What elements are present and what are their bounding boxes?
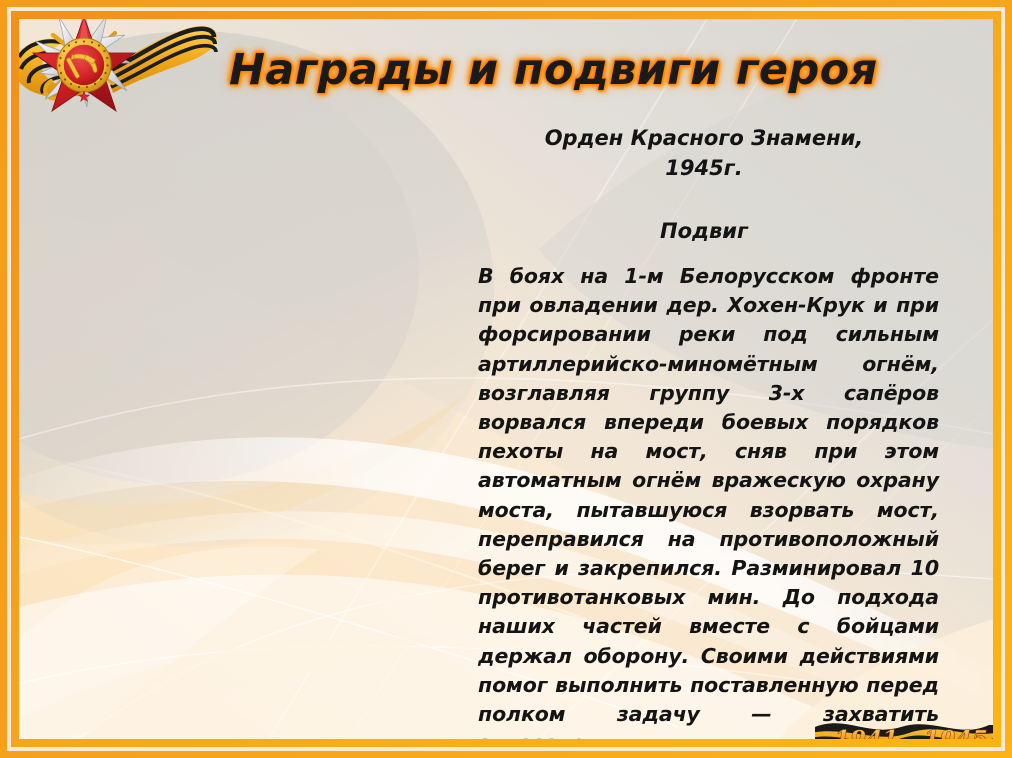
award-name: Орден Красного Знамени, <box>459 123 949 153</box>
presentation-slide: Награды и подвиги героя Орден Красного З… <box>0 0 1012 758</box>
years-ribbon-icon: 1941 - 1945 <box>811 713 993 739</box>
ribbon-years-label: 1941 - 1945 <box>834 726 988 739</box>
slide-canvas: Награды и подвиги героя Орден Красного З… <box>19 19 993 739</box>
award-year: 1945г. <box>459 153 949 183</box>
deed-body-text: В боях на 1-м Белорусском фронте при овл… <box>478 262 939 739</box>
award-name-block: Орден Красного Знамени, 1945г. <box>459 123 949 183</box>
page-title: Награды и подвиги героя <box>229 41 929 101</box>
deed-heading: Подвиг <box>459 216 949 246</box>
